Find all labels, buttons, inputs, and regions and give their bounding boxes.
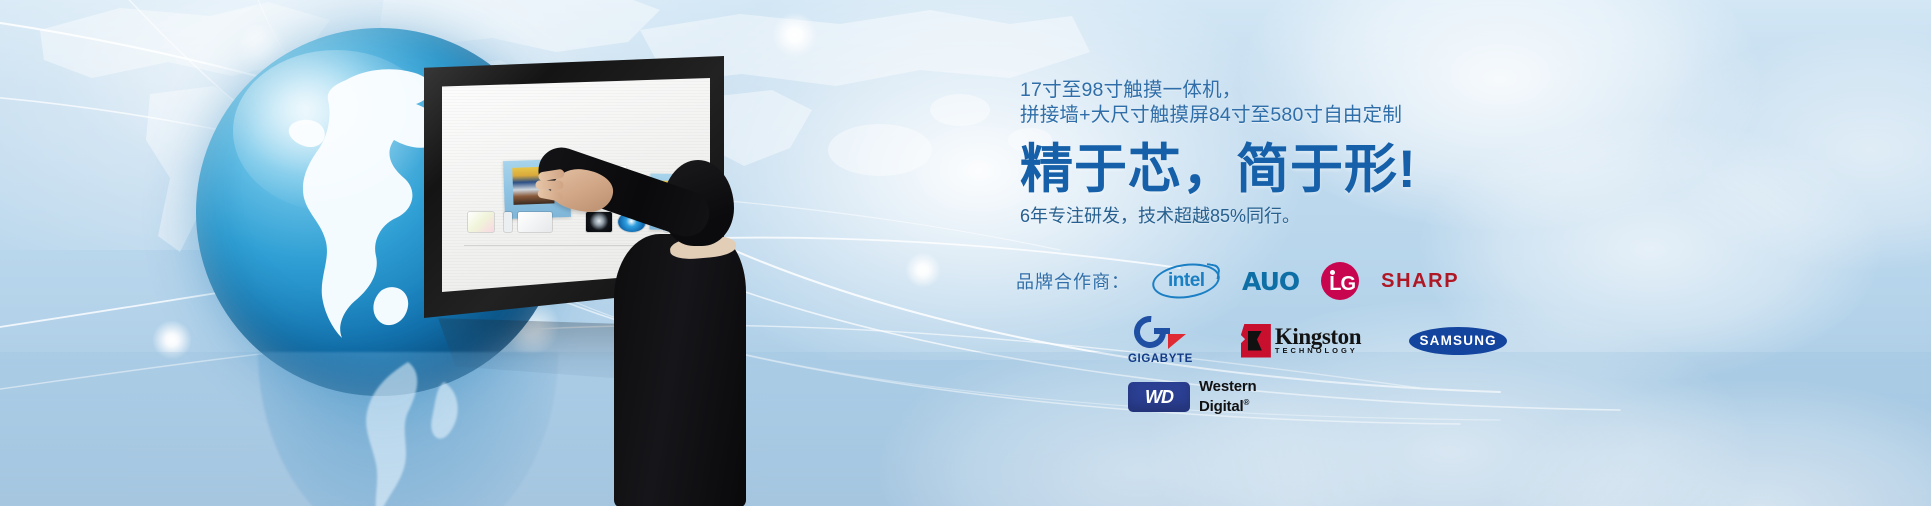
western-digital-logo-text: Western Digital® — [1199, 379, 1257, 415]
gigabyte-logo: GIGABYTE — [1128, 316, 1193, 365]
brand-partners: 品牌合作商： intel AUO LG SHARP GIGABYTE — [1016, 262, 1776, 415]
finger — [537, 188, 563, 202]
sharp-logo: SHARP — [1381, 270, 1459, 293]
samsung-logo: SAMSUNG — [1409, 327, 1507, 355]
main-headline: 精于芯，简于形! — [1020, 141, 1780, 198]
lg-logo: LG — [1321, 262, 1359, 300]
person-torso — [614, 234, 746, 506]
wd-line-2: Digital — [1199, 398, 1243, 415]
samsung-logo-text: SAMSUNG — [1419, 333, 1496, 348]
promo-banner: 17寸至98寸触摸一体机， 拼接墙+大尺寸触摸屏84寸至580寸自由定制 精于芯… — [0, 0, 1931, 506]
brand-row-1: 品牌合作商： intel AUO LG SHARP — [1016, 262, 1776, 300]
brand-partners-label: 品牌合作商： — [1016, 268, 1130, 294]
intel-logo-text: intel — [1168, 270, 1205, 292]
wd-mark-text: WD — [1145, 387, 1173, 408]
person-hand — [549, 167, 614, 214]
kingston-mark-icon — [1241, 324, 1271, 358]
person-arm — [532, 141, 715, 242]
tagline: 6年专注研发，技术超越85%同行。 — [1020, 204, 1780, 229]
brand-row-3: WD Western Digital® — [1128, 379, 1776, 415]
kingston-logo-subtext: TECHNOLOGY — [1275, 346, 1361, 355]
sub-headline-line-2: 拼接墙+大尺寸触摸屏84寸至580寸自由定制 — [1020, 103, 1780, 128]
intel-logo: intel — [1150, 259, 1222, 302]
kingston-logo: Kingston TECHNOLOGY — [1241, 324, 1361, 358]
marketing-copy: 17寸至98寸触摸一体机， 拼接墙+大尺寸触摸屏84寸至580寸自由定制 精于芯… — [1020, 78, 1780, 229]
kingston-logo-text: Kingston — [1275, 326, 1361, 348]
wd-line-1: Western — [1199, 378, 1257, 395]
western-digital-logo: WD Western Digital® — [1128, 379, 1257, 415]
registered-mark: ® — [1243, 398, 1249, 407]
person-touching-screen — [486, 148, 786, 506]
auo-logo: AUO — [1242, 267, 1299, 296]
gigabyte-triangle-shape — [1168, 334, 1186, 349]
gigabyte-logo-text: GIGABYTE — [1128, 353, 1193, 365]
wd-mark-icon: WD — [1128, 382, 1190, 412]
brand-row-2: GIGABYTE Kingston TECHNOLOGY SAMSUNG — [1128, 316, 1776, 365]
sub-headline-line-1: 17寸至98寸触摸一体机， — [1020, 78, 1780, 103]
gigabyte-mark-icon — [1132, 316, 1188, 350]
